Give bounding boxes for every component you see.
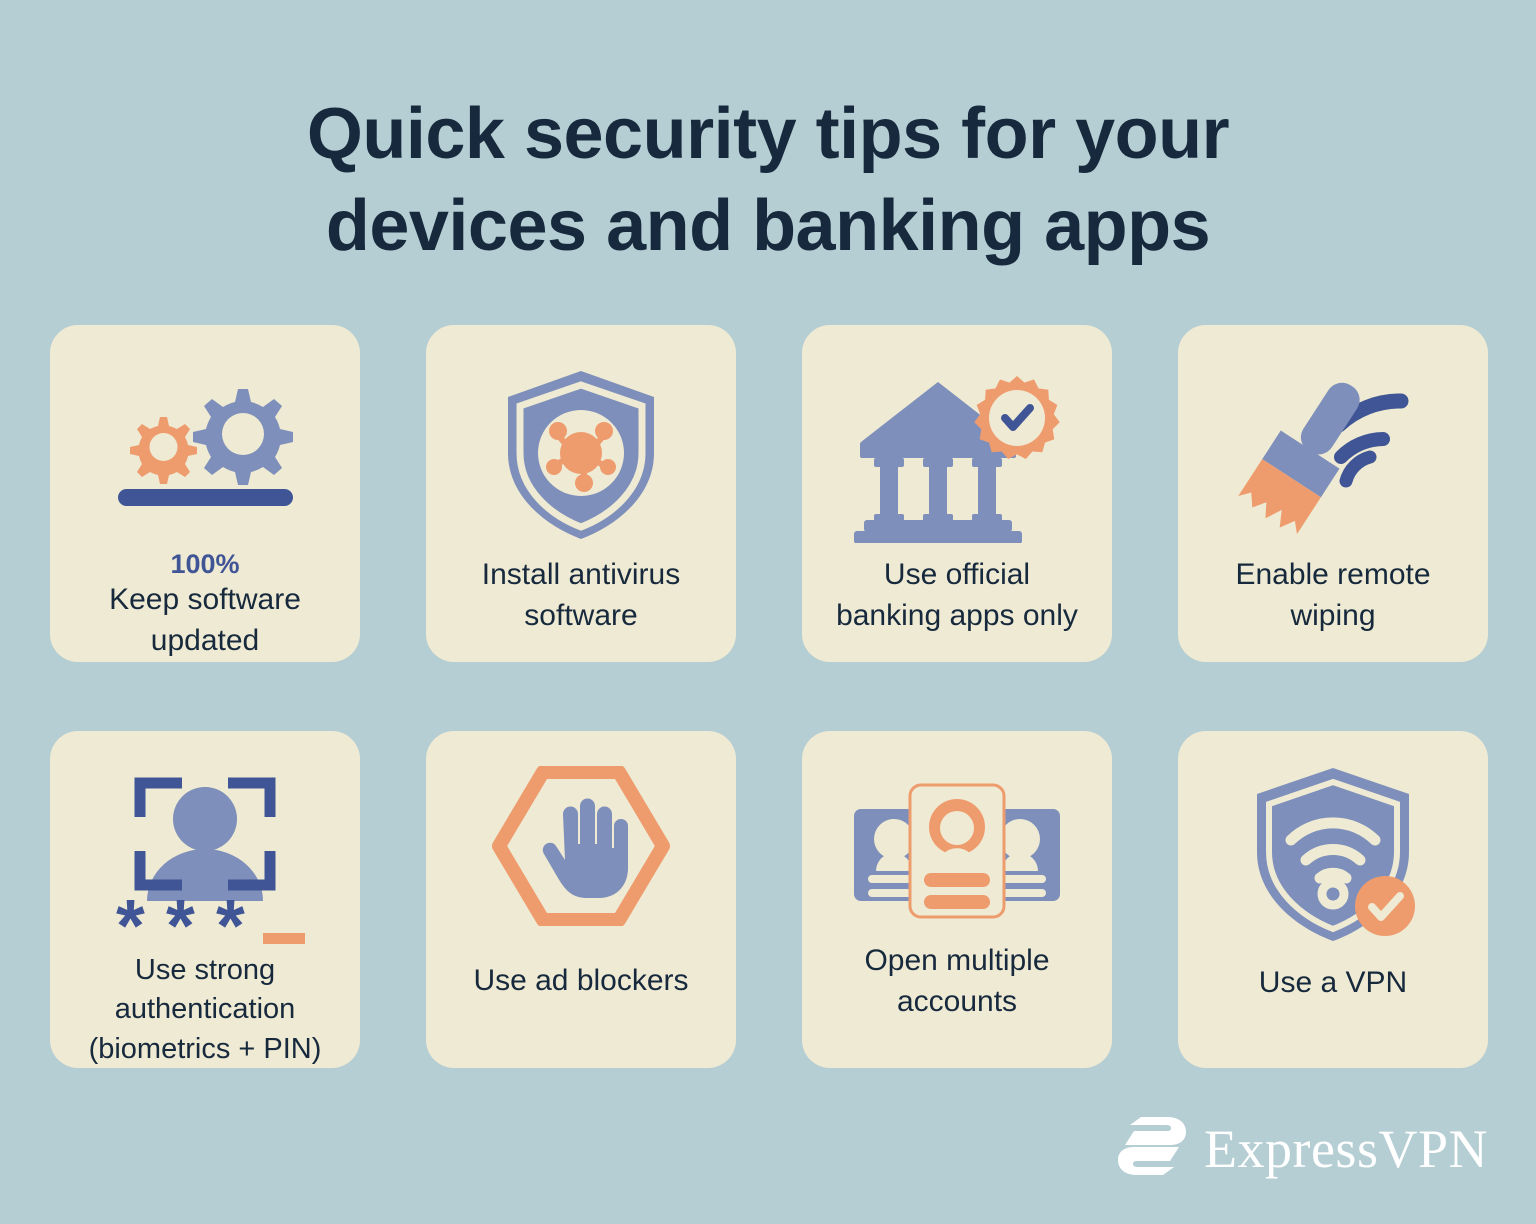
svg-text:*: * <box>166 884 195 951</box>
bank-verified-badge-icon <box>827 355 1087 555</box>
tips-grid: 100% Keep software updated <box>50 325 1488 1068</box>
gears-progress-icon <box>75 355 335 555</box>
svg-text:*: * <box>216 884 245 951</box>
tip-card-label: Use ad blockers <box>438 961 724 1002</box>
tip-card-use-a-vpn: Use a VPN <box>1178 731 1488 1068</box>
stop-hand-hexagon-icon <box>451 761 711 931</box>
tip-card-label: Use strong authentication (biometrics + … <box>62 951 348 1069</box>
tip-card-label: Open multiple accounts <box>814 941 1100 1023</box>
shield-wifi-check-icon <box>1203 761 1463 951</box>
expressvpn-e-mark-icon <box>1116 1115 1188 1182</box>
face-scan-pin-icon: * * * <box>75 761 335 951</box>
page-title: Quick security tips for your devices and… <box>0 88 1536 272</box>
brush-wireless-icon <box>1203 355 1463 555</box>
tip-card-label: Enable remote wiping <box>1190 555 1476 637</box>
tip-card-open-multiple-accounts: Open multiple accounts <box>802 731 1112 1068</box>
tip-card-label: Keep software updated <box>62 580 348 662</box>
tip-card-use-ad-blockers: Use ad blockers <box>426 731 736 1068</box>
multiple-id-cards-icon <box>827 761 1087 941</box>
expressvpn-wordmark: ExpressVPN <box>1204 1122 1488 1176</box>
expressvpn-logo: ExpressVPN <box>1116 1115 1488 1182</box>
progress-percent-label: 100% <box>170 549 239 580</box>
svg-text:*: * <box>116 884 145 951</box>
tip-card-install-antivirus-software: Install antivirus software <box>426 325 736 662</box>
infographic-root: Quick security tips for your devices and… <box>0 0 1536 1224</box>
tip-card-use-official-banking-apps-only: Use official banking apps only <box>802 325 1112 662</box>
tip-card-keep-software-updated: 100% Keep software updated <box>50 325 360 662</box>
tip-card-enable-remote-wiping: Enable remote wiping <box>1178 325 1488 662</box>
shield-virus-icon <box>451 355 711 555</box>
tip-card-label: Use official banking apps only <box>814 555 1100 637</box>
tip-card-label: Install antivirus software <box>438 555 724 637</box>
tip-card-use-strong-authentication: * * * Use strong authentication (biometr… <box>50 731 360 1068</box>
tip-card-label: Use a VPN <box>1190 963 1476 1004</box>
